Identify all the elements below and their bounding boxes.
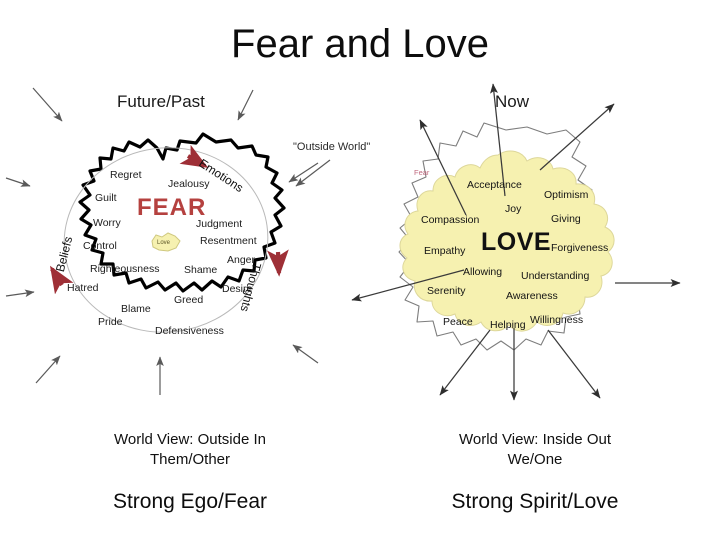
left-caption-strong-ego: Strong Ego/Fear bbox=[30, 490, 350, 514]
love-word-allowing: Allowing bbox=[463, 266, 502, 278]
fear-word-shame: Shame bbox=[184, 264, 217, 276]
love-word-giving: Giving bbox=[551, 213, 581, 225]
left-world-view-line1: World View: Outside In bbox=[30, 430, 350, 449]
love-word-joy: Joy bbox=[505, 203, 521, 215]
left-world-view-line2: Them/Other bbox=[30, 450, 350, 469]
love-center-word: LOVE bbox=[481, 228, 551, 257]
fear-word-defensiveness: Defensiveness bbox=[155, 325, 224, 337]
love-word-serenity: Serenity bbox=[427, 285, 466, 297]
love-word-helping: Helping bbox=[490, 319, 526, 331]
fear-word-anger: Anger bbox=[227, 254, 255, 266]
love-word-peace: Peace bbox=[443, 316, 473, 328]
fear-word-worry: Worry bbox=[93, 217, 121, 229]
fear-seed-label: Fear bbox=[414, 168, 429, 177]
fear-word-desire: Desire bbox=[222, 283, 252, 295]
fear-word-blame: Blame bbox=[121, 303, 151, 315]
love-word-forgiveness: Forgiveness bbox=[551, 242, 608, 254]
fear-word-hatred: Hatred bbox=[67, 282, 99, 294]
love-word-acceptance: Acceptance bbox=[467, 179, 522, 191]
fear-word-resentment: Resentment bbox=[200, 235, 257, 247]
love-word-optimism: Optimism bbox=[544, 189, 588, 201]
love-word-compassion: Compassion bbox=[421, 214, 479, 226]
right-world-view-line1: World View: Inside Out bbox=[375, 430, 695, 449]
fear-word-guilt: Guilt bbox=[95, 192, 117, 204]
fear-word-pride: Pride bbox=[98, 316, 123, 328]
love-word-empathy: Empathy bbox=[424, 245, 465, 257]
love-seed-label: Love bbox=[157, 240, 170, 246]
right-world-view-line2: We/One bbox=[375, 450, 695, 469]
fear-word-jealousy: Jealousy bbox=[168, 178, 209, 190]
love-word-willingness: Willingness bbox=[530, 314, 583, 326]
fear-word-greed: Greed bbox=[174, 294, 203, 306]
outside-world-label: "Outside World" bbox=[293, 141, 370, 153]
fear-word-regret: Regret bbox=[110, 169, 142, 181]
fear-word-control: Control bbox=[83, 240, 117, 252]
diagram-canvas: Fear and Love bbox=[0, 0, 720, 545]
fear-word-righteousness: Righteousness bbox=[90, 263, 159, 275]
left-header-future-past: Future/Past bbox=[117, 92, 205, 112]
right-header-now: Now bbox=[495, 92, 529, 112]
right-caption-strong-spirit: Strong Spirit/Love bbox=[375, 490, 695, 514]
fear-word-judgment: Judgment bbox=[196, 218, 242, 230]
love-word-understanding: Understanding bbox=[521, 270, 589, 282]
love-word-awareness: Awareness bbox=[506, 290, 558, 302]
